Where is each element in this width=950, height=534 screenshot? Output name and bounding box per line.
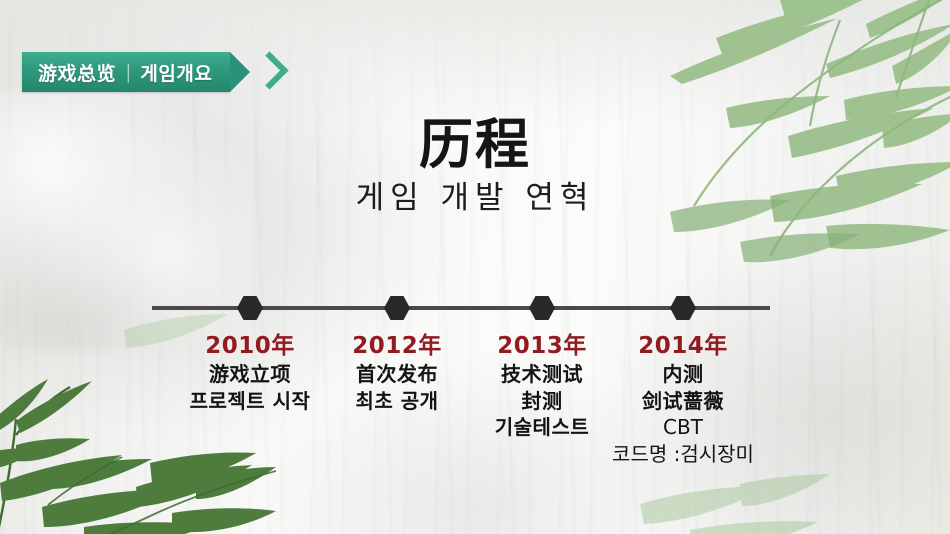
milestone-detail-line: 최초 공개 (352, 388, 442, 414)
milestone-2013: 2013年技术测试封测기술테스트 (495, 332, 590, 441)
milestone-year: 2014年 (612, 332, 754, 361)
milestone-detail-line: 코드명 :검시장미 (612, 441, 754, 467)
page-title: 历程 (0, 117, 950, 174)
page-subtitle: 게임 개발 연혁 (0, 180, 950, 217)
section-banner[interactable]: 游戏总览 | 게임개요 (22, 52, 282, 92)
milestone-year: 2013年 (495, 332, 590, 361)
milestone-detail-line: 技术测试 (495, 361, 590, 387)
milestone-detail-line: 기술테스트 (495, 414, 590, 440)
section-banner-kr-label: 게임개요 (140, 59, 212, 86)
presentation-slide: 游戏总览 | 게임개요 历程 게임 개발 연혁 2010年游戏立项프로젝트 시작… (0, 0, 950, 534)
milestone-detail-line: 封测 (495, 388, 590, 414)
section-banner-separator: | (125, 61, 131, 83)
milestone-2012: 2012年首次发布최초 공개 (352, 332, 442, 414)
milestone-detail-line: 首次发布 (352, 361, 442, 387)
milestone-detail-line: 剑试蔷薇 (612, 388, 754, 414)
section-banner-body[interactable]: 游戏总览 | 게임개요 (22, 52, 230, 92)
section-banner-cn-label: 游戏总览 (38, 59, 116, 86)
milestone-detail-line: CBT (612, 414, 754, 440)
milestone-year: 2012年 (352, 332, 442, 361)
milestone-detail-line: 内测 (612, 361, 754, 387)
milestone-2010: 2010年游戏立项프로젝트 시작 (190, 332, 311, 414)
milestone-2014: 2014年内测剑试蔷薇CBT코드명 :검시장미 (612, 332, 754, 467)
milestone-detail-line: 游戏立项 (190, 361, 311, 387)
chevron-right-icon (256, 52, 282, 92)
milestone-year: 2010年 (190, 332, 311, 361)
milestone-detail-line: 프로젝트 시작 (190, 388, 311, 414)
